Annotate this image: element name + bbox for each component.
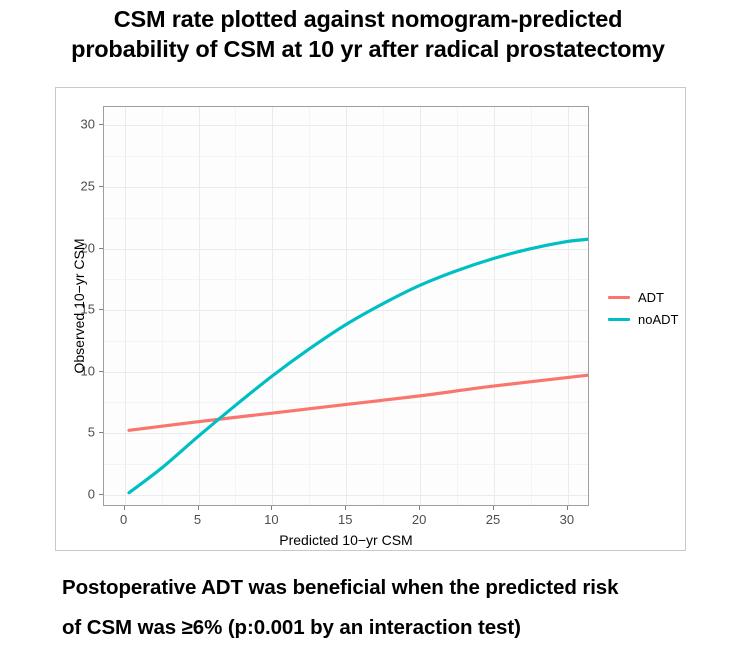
x-tick-mark bbox=[419, 506, 420, 510]
x-tick-mark bbox=[493, 506, 494, 510]
figure-caption: Postoperative ADT was beneficial when th… bbox=[62, 568, 722, 648]
y-tick-mark bbox=[99, 494, 103, 495]
x-tick-mark bbox=[345, 506, 346, 510]
y-tick-mark bbox=[99, 432, 103, 433]
x-tick-label: 15 bbox=[338, 512, 352, 527]
figure-title-line-1: CSM rate plotted against nomogram-predic… bbox=[0, 4, 736, 34]
x-tick-mark bbox=[567, 506, 568, 510]
figure-title-line-2: probability of CSM at 10 yr after radica… bbox=[0, 34, 736, 64]
y-tick-mark bbox=[99, 186, 103, 187]
y-tick-label: 30 bbox=[67, 117, 95, 132]
legend-label-noadt: noADT bbox=[638, 312, 678, 327]
series-line-noadt bbox=[129, 239, 588, 492]
series-lines bbox=[104, 107, 588, 505]
x-tick-label: 20 bbox=[412, 512, 426, 527]
legend-key-noadt bbox=[608, 318, 630, 321]
chart-legend: ADT noADT bbox=[608, 286, 684, 330]
y-tick-label: 5 bbox=[67, 425, 95, 440]
series-line-adt bbox=[129, 375, 588, 430]
legend-item-adt[interactable]: ADT bbox=[608, 286, 684, 308]
x-tick-label: 30 bbox=[560, 512, 574, 527]
y-tick-mark bbox=[99, 309, 103, 310]
y-tick-mark bbox=[99, 371, 103, 372]
y-axis-title: Observed 10−yr CSM bbox=[71, 186, 87, 426]
legend-key-adt bbox=[608, 296, 630, 299]
y-tick-mark bbox=[99, 248, 103, 249]
figure-caption-line-1: Postoperative ADT was beneficial when th… bbox=[62, 568, 722, 608]
figure-container: 051015202530 051015202530 Predicted 10−y… bbox=[55, 87, 686, 551]
figure-title: CSM rate plotted against nomogram-predic… bbox=[0, 4, 736, 64]
y-tick-label: 0 bbox=[67, 486, 95, 501]
y-tick-mark bbox=[99, 124, 103, 125]
figure-caption-line-2: of CSM was ≥6% (p:0.001 by an interactio… bbox=[62, 608, 722, 648]
x-tick-label: 25 bbox=[486, 512, 500, 527]
x-tick-mark bbox=[271, 506, 272, 510]
legend-label-adt: ADT bbox=[638, 290, 664, 305]
x-tick-label: 0 bbox=[120, 512, 127, 527]
x-tick-mark bbox=[124, 506, 125, 510]
x-tick-label: 5 bbox=[194, 512, 201, 527]
x-tick-mark bbox=[198, 506, 199, 510]
x-tick-label: 10 bbox=[264, 512, 278, 527]
plot-panel bbox=[103, 106, 589, 506]
legend-item-noadt[interactable]: noADT bbox=[608, 308, 684, 330]
x-axis-title: Predicted 10−yr CSM bbox=[103, 532, 589, 548]
